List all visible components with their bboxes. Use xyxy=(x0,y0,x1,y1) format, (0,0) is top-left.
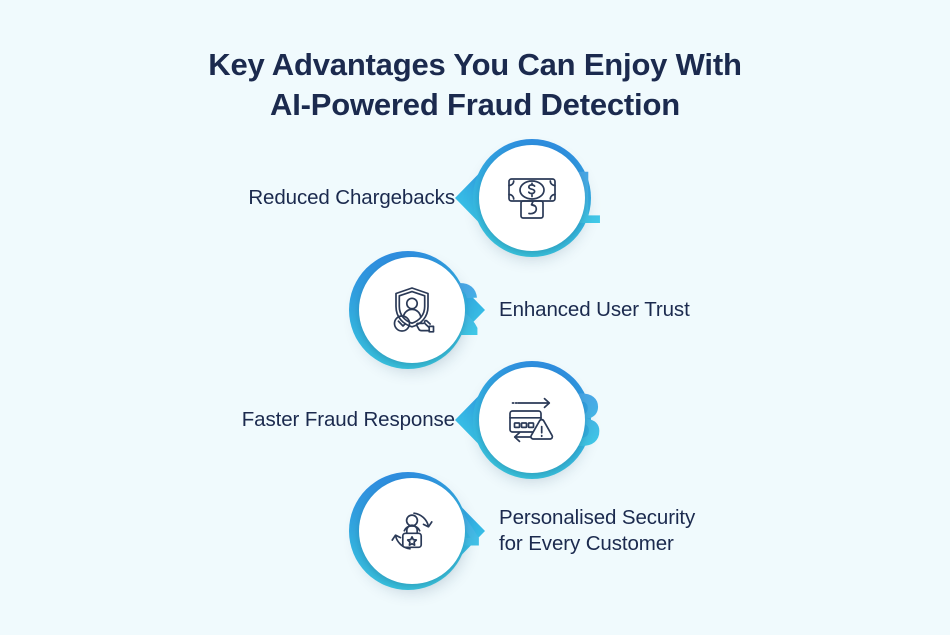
page-title-line-1: Key Advantages You Can Enjoy With xyxy=(0,45,950,85)
page-title: Key Advantages You Can Enjoy With AI-Pow… xyxy=(0,45,950,125)
advantage-badge-1[interactable]: 1 xyxy=(455,133,605,263)
advantage-label-4-line-1: Personalised Security xyxy=(499,506,695,529)
page-title-line-2: AI-Powered Fraud Detection xyxy=(0,85,950,125)
infographic-canvas: Key Advantages You Can Enjoy With AI-Pow… xyxy=(0,0,950,635)
shield-user-approved-icon xyxy=(384,282,440,338)
advantage-label-2-line-1: Enhanced User Trust xyxy=(499,298,690,321)
advantage-icon-disc-4 xyxy=(359,478,465,584)
credit-card-alert-icon xyxy=(504,392,560,448)
advantage-row-4: Personalised Security for Every Customer xyxy=(0,466,950,596)
advantage-icon-disc-2 xyxy=(359,257,465,363)
user-lock-refresh-icon xyxy=(384,503,440,559)
advantage-label-1: Reduced Chargebacks xyxy=(248,133,455,263)
advantage-label-4-line-2: for Every Customer xyxy=(499,532,674,555)
advantage-icon-disc-3 xyxy=(479,367,585,473)
advantage-label-4: Personalised Security for Every Customer xyxy=(499,466,695,596)
advantage-icon-disc-1 xyxy=(479,145,585,251)
advantage-row-1: Reduced Chargebacks 1 xyxy=(0,133,950,263)
advantage-label-3-line-1: Faster Fraud Response xyxy=(242,408,455,431)
advantage-label-1-line-1: Reduced Chargebacks xyxy=(248,186,455,209)
advantage-badge-4[interactable]: 4 xyxy=(335,466,485,596)
banknote-refund-icon xyxy=(504,170,560,226)
